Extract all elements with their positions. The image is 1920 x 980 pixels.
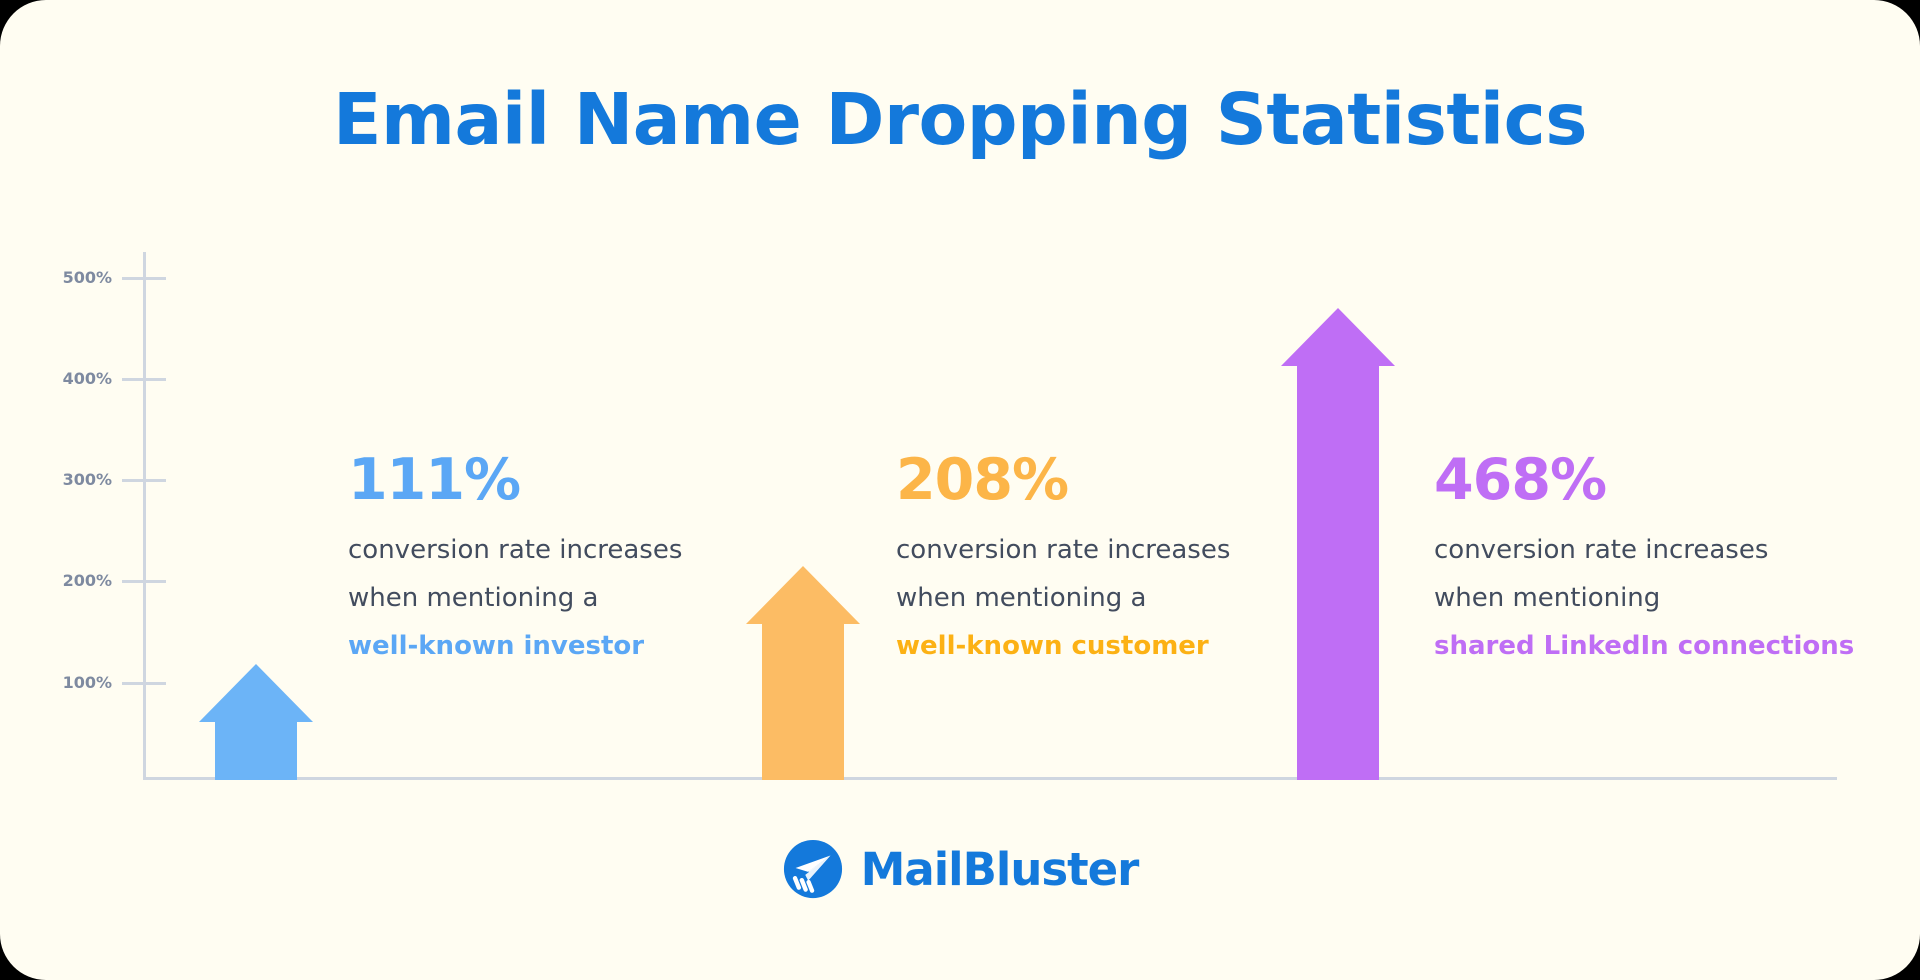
- stat-line-3b: when mentioning: [1434, 574, 1854, 622]
- stat-line-1a: conversion rate increases: [348, 526, 682, 574]
- y-tick-label-400: 400%: [22, 369, 112, 388]
- arrow-bar-1: [196, 660, 316, 780]
- paper-plane-circle-icon: [782, 838, 844, 900]
- stat-value-2: 208%: [896, 452, 1230, 509]
- stat-highlight-2: well-known customer: [896, 622, 1230, 670]
- arrow-bar-3: [1278, 304, 1398, 780]
- infographic-card: Email Name Dropping Statistics 500% 400%…: [0, 0, 1920, 980]
- stat-block-1: 111% conversion rate increases when ment…: [348, 452, 682, 670]
- y-tick-400: [122, 378, 166, 381]
- y-tick-label-300: 300%: [22, 470, 112, 489]
- x-axis-line: [143, 777, 1837, 780]
- stat-block-3: 468% conversion rate increases when ment…: [1434, 452, 1854, 670]
- chart-plot-area: 500% 400% 300% 200% 100% 111% conversion…: [0, 0, 1920, 980]
- brand-wordmark: MailBluster: [861, 843, 1139, 896]
- y-tick-label-200: 200%: [22, 571, 112, 590]
- stat-line-2b: when mentioning a: [896, 574, 1230, 622]
- stat-highlight-1: well-known investor: [348, 622, 682, 670]
- brand-logo: MailBluster: [0, 838, 1920, 900]
- stat-value-3: 468%: [1434, 452, 1854, 509]
- stat-line-3a: conversion rate increases: [1434, 526, 1854, 574]
- stat-value-1: 111%: [348, 452, 682, 509]
- y-tick-label-500: 500%: [22, 268, 112, 287]
- y-axis-line: [143, 252, 146, 780]
- stat-line-2a: conversion rate increases: [896, 526, 1230, 574]
- y-tick-200: [122, 580, 166, 583]
- y-tick-label-100: 100%: [22, 673, 112, 692]
- y-tick-300: [122, 479, 166, 482]
- stat-block-2: 208% conversion rate increases when ment…: [896, 452, 1230, 670]
- y-tick-500: [122, 277, 166, 280]
- y-tick-100: [122, 682, 166, 685]
- stat-line-1b: when mentioning a: [348, 574, 682, 622]
- stat-highlight-3: shared LinkedIn connections: [1434, 622, 1854, 670]
- arrow-bar-2: [743, 562, 863, 780]
